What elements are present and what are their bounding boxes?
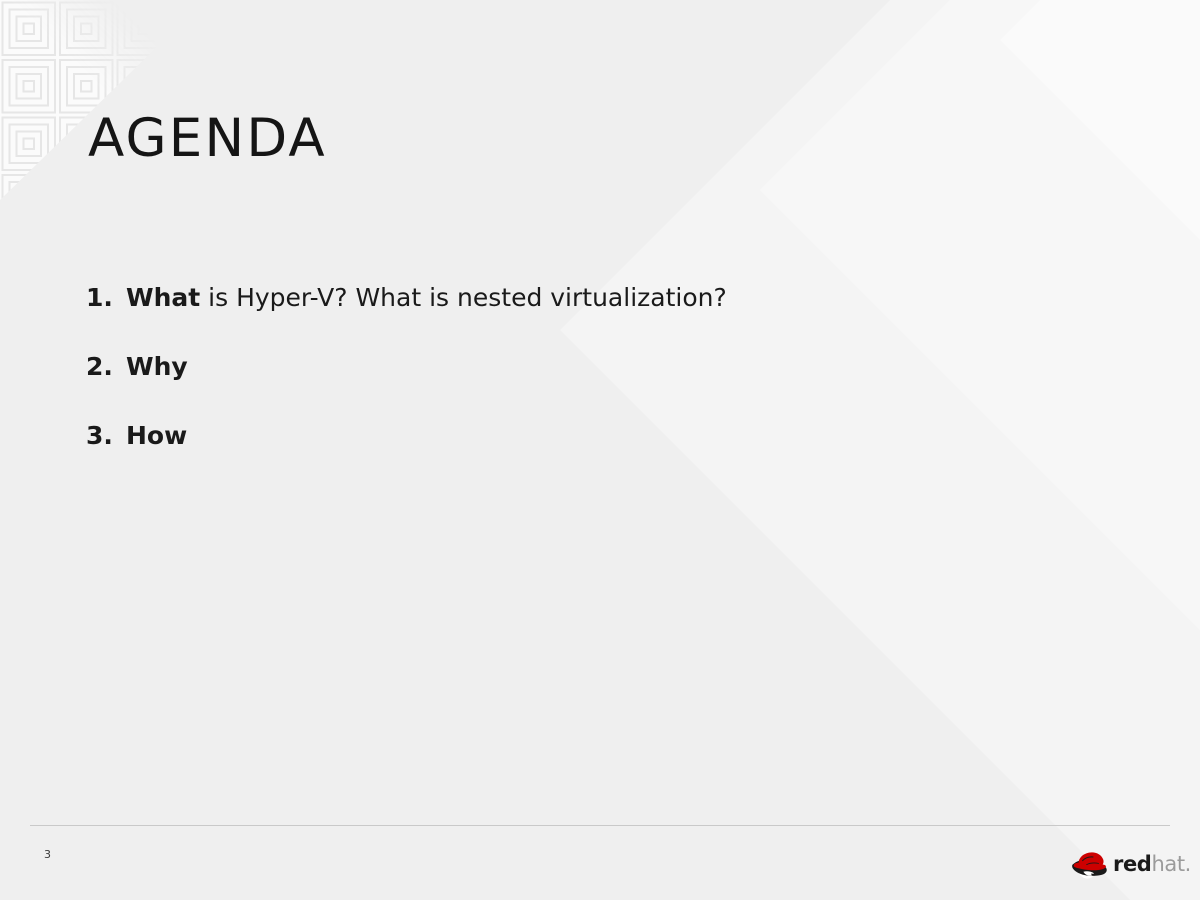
list-item-label: Why bbox=[126, 350, 188, 384]
list-item-emphasis: Why bbox=[126, 352, 188, 381]
list-item-number: 3. bbox=[86, 419, 126, 453]
redhat-wordmark: redhat. bbox=[1113, 854, 1191, 875]
list-item-number: 1. bbox=[86, 281, 126, 315]
wordmark-hat: hat. bbox=[1151, 852, 1191, 876]
list-item: 2. Why bbox=[86, 350, 1086, 384]
list-item-number: 2. bbox=[86, 350, 126, 384]
list-item-emphasis: How bbox=[126, 421, 187, 450]
agenda-list: 1. What is Hyper-V? What is nested virtu… bbox=[86, 281, 1086, 452]
page-title: AGENDA bbox=[88, 112, 327, 165]
presentation-slide: AGENDA 1. What is Hyper-V? What is neste… bbox=[0, 0, 1200, 900]
list-item-rest: is Hyper-V? What is nested virtualizatio… bbox=[200, 283, 727, 312]
list-item-label: How bbox=[126, 419, 187, 453]
footer-divider bbox=[30, 825, 1170, 826]
page-number: 3 bbox=[44, 849, 51, 860]
list-item: 1. What is Hyper-V? What is nested virtu… bbox=[86, 281, 1086, 315]
list-item-emphasis: What bbox=[126, 283, 200, 312]
redhat-logo: redhat. bbox=[1069, 844, 1189, 884]
list-item: 3. How bbox=[86, 419, 1086, 453]
list-item-label: What is Hyper-V? What is nested virtuali… bbox=[126, 281, 727, 315]
shadowman-icon bbox=[1069, 847, 1111, 881]
wordmark-red: red bbox=[1113, 852, 1151, 876]
